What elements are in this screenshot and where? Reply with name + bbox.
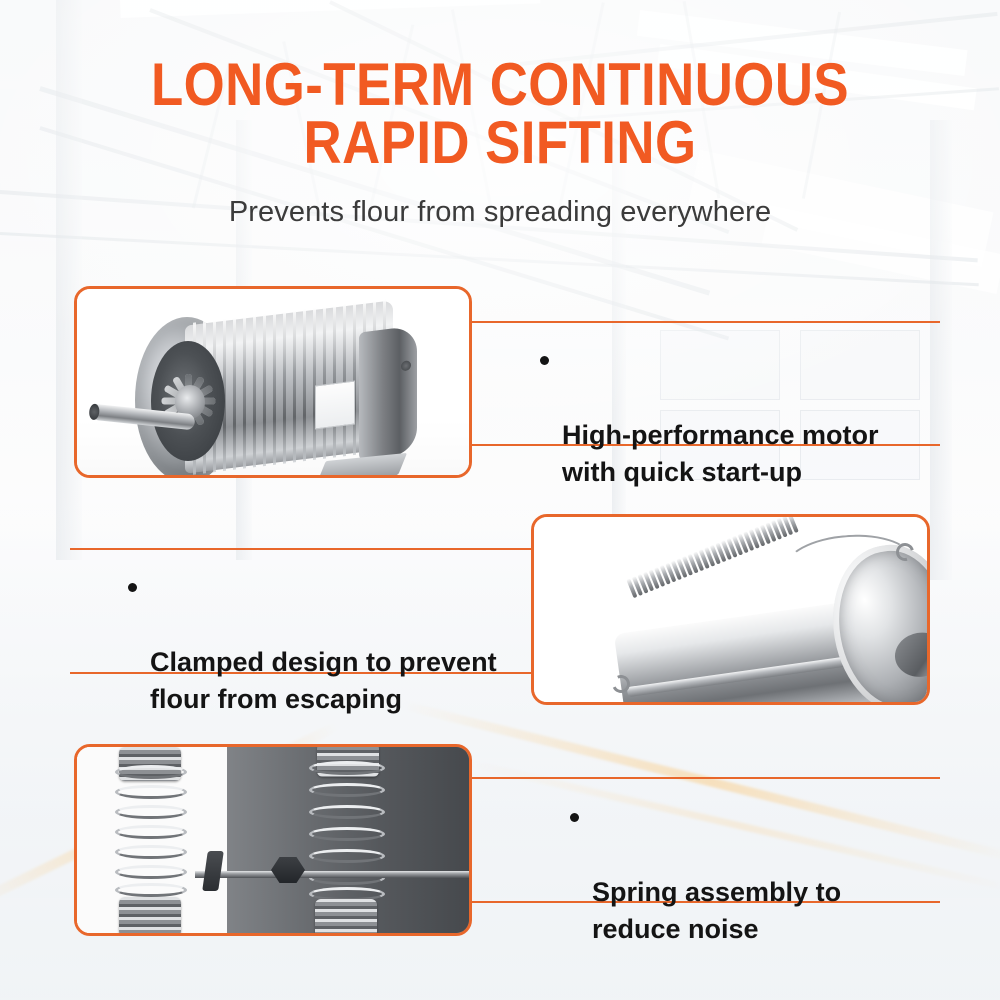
coil-spring-left: [115, 765, 187, 897]
motor-rear-housing: [359, 325, 417, 460]
clamp-spring-photo: [534, 517, 927, 702]
feature-1-paragraph: High-performance motor with quick start-…: [540, 343, 940, 528]
tension-spring: [626, 514, 800, 598]
coil-springs-photo: [77, 747, 469, 933]
connector-rule-top-3: [470, 777, 940, 779]
feature-text-springs: Spring assembly to reduce noise: [570, 800, 970, 985]
cross-bar: [195, 871, 472, 878]
page-subtitle: Prevents flour from spreading everywhere: [0, 196, 1000, 229]
bullet-icon: [540, 356, 549, 365]
feature-image-card-springs: [74, 744, 472, 936]
motor-nameplate: [315, 381, 355, 430]
feature-3-paragraph: Spring assembly to reduce noise: [570, 800, 970, 985]
feature-image-card-motor: [74, 286, 472, 478]
connector-rule-top-2: [70, 548, 540, 550]
connector-rule-top-1: [470, 321, 940, 323]
feature-image-card-clamp: [531, 514, 930, 705]
bullet-icon: [128, 583, 137, 592]
page-title: LONG-TERM CONTINUOUS RAPID SIFTING: [60, 56, 940, 172]
bullet-icon: [570, 813, 579, 822]
spring-bottom-cap-right: [315, 899, 377, 936]
title-line-1: LONG-TERM CONTINUOUS: [60, 56, 940, 114]
electric-motor-photo: [77, 289, 469, 475]
feature-text-clamp: Clamped design to prevent flour from esc…: [128, 570, 548, 755]
spring-bottom-cap-left: [119, 897, 181, 936]
feature-3-label: Spring assembly to reduce noise: [570, 874, 970, 948]
feature-2-paragraph: Clamped design to prevent flour from esc…: [128, 570, 548, 755]
coil-spring-right: [309, 761, 385, 901]
feature-2-label: Clamped design to prevent flour from esc…: [128, 644, 548, 718]
feature-text-motor: High-performance motor with quick start-…: [540, 343, 940, 528]
title-line-2: RAPID SIFTING: [60, 114, 940, 172]
feature-1-label: High-performance motor with quick start-…: [540, 417, 940, 491]
